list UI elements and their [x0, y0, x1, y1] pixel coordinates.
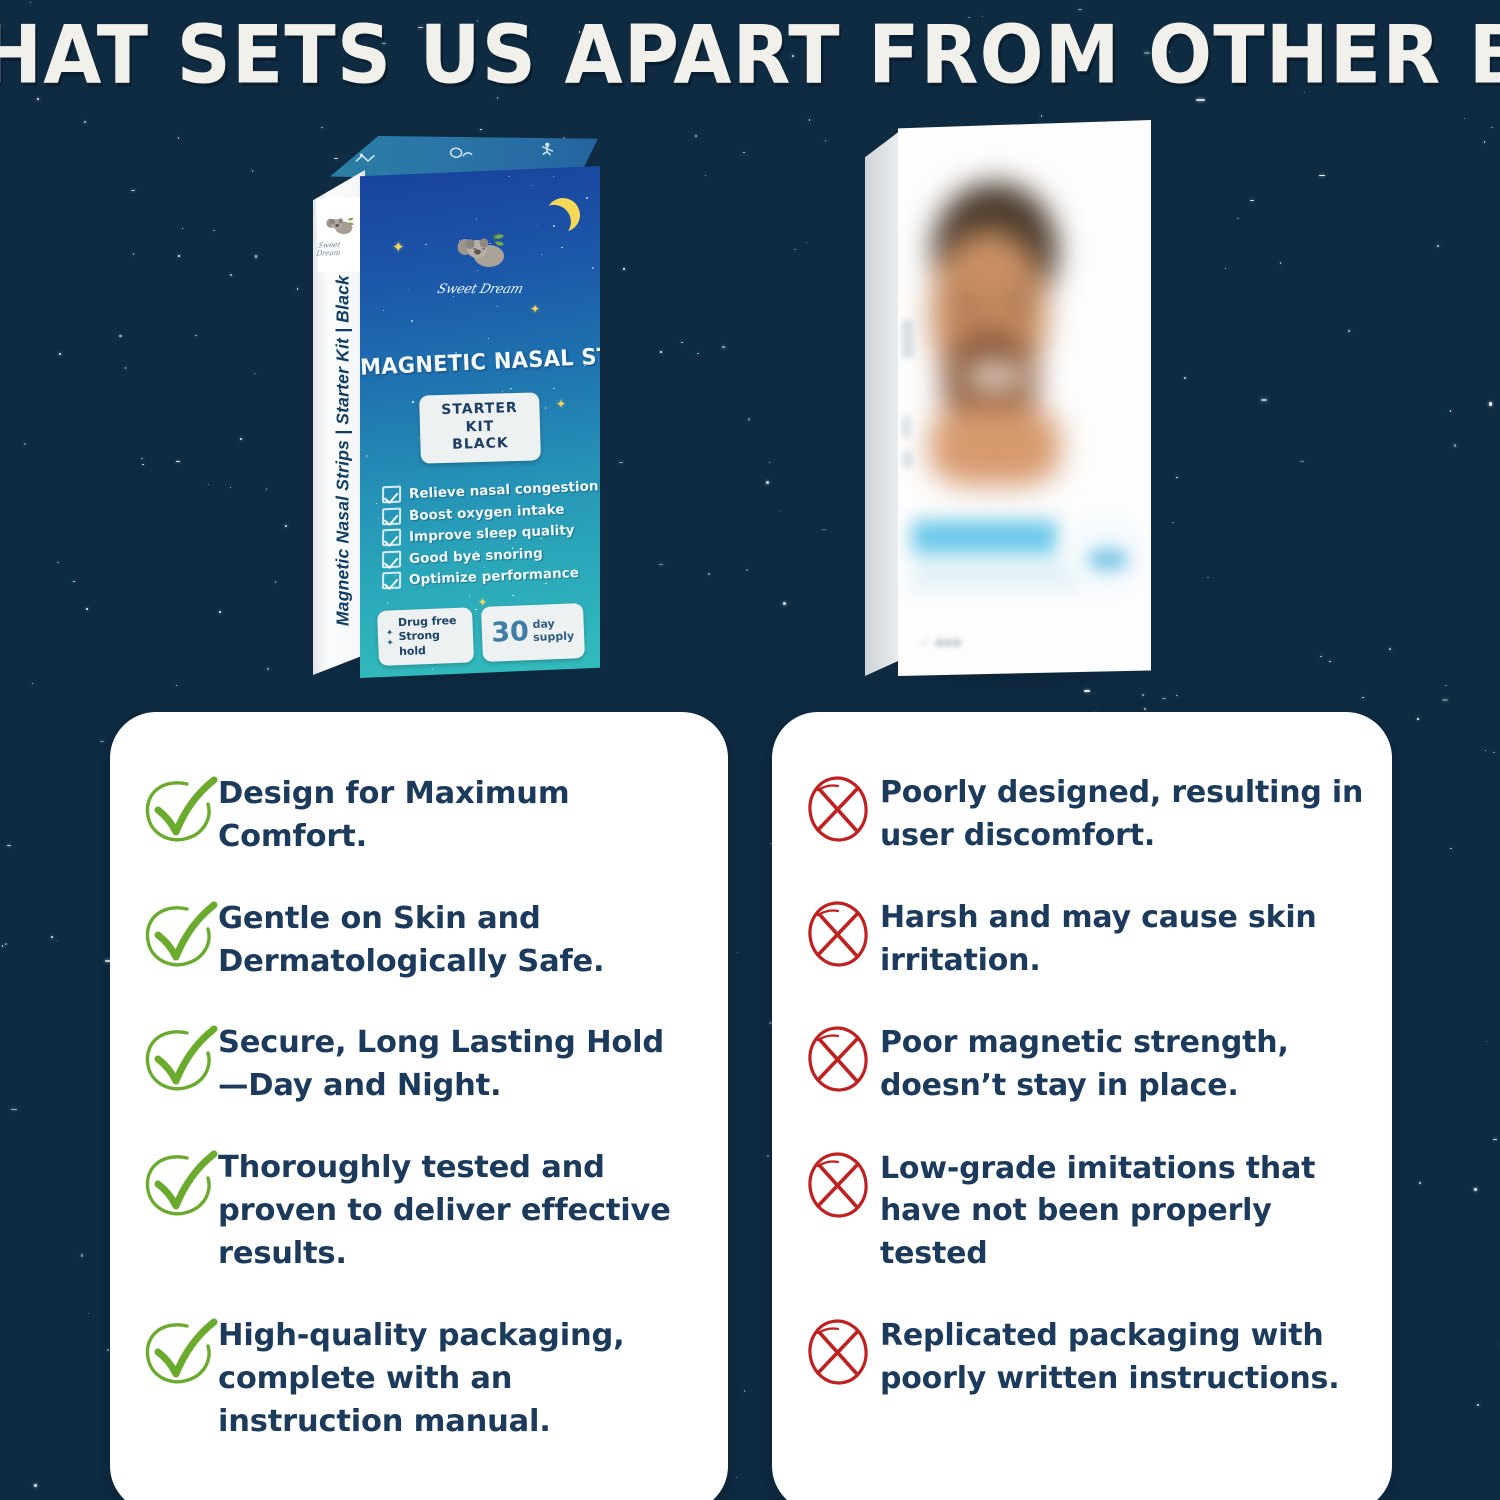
red-cross-circle-icon	[802, 1022, 880, 1096]
infographic-canvas: WHAT SETS US APART FROM OTHER BRANDS	[0, 0, 1500, 1500]
green-check-circle-icon	[140, 1316, 218, 1390]
pros-list-item: Design for Maximum Comfort.	[140, 770, 702, 859]
cons-list-item: Poor magnetic strength, doesn’t stay in …	[802, 1020, 1366, 1107]
cons-item-label: Poorly designed, resulting in user disco…	[880, 770, 1366, 857]
supply-number: 30	[491, 619, 530, 647]
cons-item-label: Poor magnetic strength, doesn’t stay in …	[880, 1020, 1366, 1107]
pros-item-label: Design for Maximum Comfort.	[218, 770, 702, 859]
pros-item-label: Thoroughly tested and proven to deliver …	[218, 1144, 702, 1276]
pros-list-item: Thoroughly tested and proven to deliver …	[140, 1144, 702, 1276]
flap-icon-athlete	[538, 141, 563, 159]
our-product-box: Sweet Dream Magnetic Nasal Strips | Star…	[300, 136, 620, 686]
cons-item-label: Harsh and may cause skin irritation.	[880, 895, 1366, 982]
cons-list-item: Harsh and may cause skin irritation.	[802, 895, 1366, 982]
pros-item-label: Secure, Long Lasting Hold —Day and Night…	[218, 1019, 702, 1108]
pros-item-label: Gentle on Skin and Dermatologically Safe…	[218, 895, 702, 984]
flap-icon-sleep	[354, 152, 381, 169]
sparkle-icon: ✦✦	[386, 628, 394, 649]
cons-item-label: Low-grade imitations that have not been …	[880, 1146, 1366, 1276]
front-brand-name: Sweet Dream	[413, 282, 547, 297]
crescent-moon-icon	[541, 193, 585, 237]
product-headline: MAGNETIC NASAL STRIPS	[360, 344, 600, 380]
spine-product-text: Magnetic Nasal Strips | Starter Kit | Bl…	[333, 251, 354, 651]
box-benefit-row: Relieve nasal congestion	[382, 478, 588, 504]
competitor-product-box: ✓ ▪▪▪	[865, 112, 1160, 692]
gold-star-icon: ✦	[392, 240, 405, 255]
red-cross-circle-icon	[802, 1315, 880, 1389]
box-benefit-label: Relieve nasal congestion	[409, 478, 599, 502]
red-cross-circle-icon	[802, 1148, 880, 1222]
gold-star-icon: ✦	[556, 398, 566, 410]
koala-icon	[449, 230, 511, 276]
page-title: WHAT SETS US APART FROM OTHER BRANDS	[0, 8, 1500, 102]
green-check-circle-icon	[140, 899, 218, 973]
blurred-side-text	[902, 320, 928, 470]
green-check-circle-icon	[140, 1023, 218, 1097]
supply-badge: 30 day supply	[481, 603, 585, 662]
cons-list-item: Poorly designed, resulting in user disco…	[802, 770, 1366, 857]
pros-list-item: Gentle on Skin and Dermatologically Safe…	[140, 895, 702, 984]
cons-item-label: Replicated packaging with poorly written…	[880, 1313, 1366, 1400]
pros-list-item: High-quality packaging, complete with an…	[140, 1312, 702, 1444]
checkbox-icon	[382, 507, 401, 525]
green-check-circle-icon	[140, 774, 218, 848]
cons-panel: Poorly designed, resulting in user disco…	[772, 712, 1392, 1500]
drug-free-line2: Strong hold	[398, 628, 466, 659]
supply-line2: supply	[533, 630, 575, 644]
red-cross-circle-icon	[802, 897, 880, 971]
box-spine-panel: Sweet Dream Magnetic Nasal Strips | Star…	[313, 170, 365, 675]
koala-icon	[321, 213, 356, 240]
box-benefits-list: Relieve nasal congestion Boost oxygen in…	[382, 482, 587, 590]
blurred-circle-badge	[1067, 518, 1141, 592]
box-benefit-label: Optimize performance	[409, 565, 579, 588]
checkbox-icon	[382, 571, 401, 589]
box-benefit-label: Boost oxygen intake	[409, 501, 565, 523]
pros-list-item: Secure, Long Lasting Hold —Day and Night…	[140, 1019, 702, 1108]
red-cross-circle-icon	[802, 772, 880, 846]
pros-item-label: High-quality packaging, complete with an…	[218, 1312, 702, 1444]
box-front-panel: ✦ ✦ ✦ ✦ ✦ ✦ Swe	[360, 166, 600, 678]
competitor-box-front: ✓ ▪▪▪	[898, 120, 1151, 676]
cons-list-item: Low-grade imitations that have not been …	[802, 1146, 1366, 1276]
drug-free-badge: ✦✦ Drug free Strong hold	[377, 607, 474, 666]
pros-panel: Design for Maximum Comfort. Gentle on Sk…	[110, 712, 728, 1500]
cons-list-item: Replicated packaging with poorly written…	[802, 1313, 1366, 1400]
blurred-face-photo	[914, 178, 1074, 478]
front-logo: Sweet Dream	[415, 230, 545, 297]
flap-icon-nose	[448, 146, 475, 163]
box-benefit-label: Improve sleep quality	[409, 522, 575, 545]
kit-badge-line1: STARTER KIT	[437, 400, 522, 437]
checkbox-icon	[382, 550, 401, 568]
checkbox-icon	[382, 485, 401, 503]
competitor-box-side	[865, 130, 901, 676]
blurred-small-text: ✓ ▪▪▪	[920, 635, 961, 650]
box-benefit-label: Good bye snoring	[409, 545, 543, 567]
checkbox-icon	[382, 528, 401, 546]
kit-variant-badge: STARTER KIT BLACK	[419, 392, 541, 463]
kit-badge-line2: BLACK	[438, 435, 522, 455]
gold-star-icon: ✦	[530, 303, 540, 315]
green-check-circle-icon	[140, 1148, 218, 1222]
box-benefit-row: Improve sleep quality	[382, 521, 588, 547]
box-bottom-badges: ✦✦ Drug free Strong hold 30 day supply	[377, 603, 585, 666]
